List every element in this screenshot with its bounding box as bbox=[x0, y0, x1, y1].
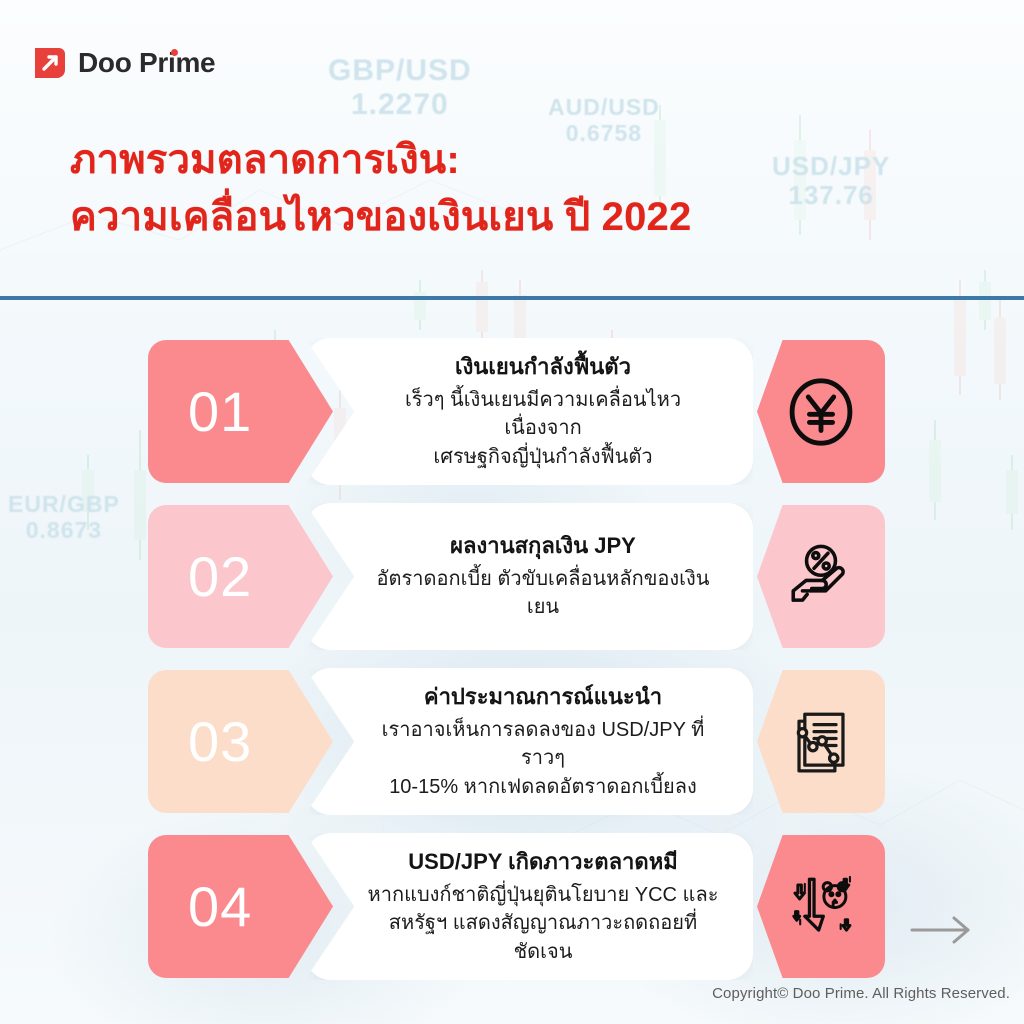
point-icon-badge-01 bbox=[757, 340, 885, 483]
page-title: ภาพรวมตลาดการเงิน: ความเคลื่อนไหวของเงิน… bbox=[70, 132, 950, 246]
point-title-04: USD/JPY เกิดภาวะตลาดหมี bbox=[408, 847, 677, 877]
point-desc-04-line2: สหรัฐฯ แสดงสัญญาณภาวะถดถอยที่ชัดเจน bbox=[367, 909, 719, 966]
bear-market-down-arrow-icon bbox=[784, 870, 858, 944]
point-number-01: 01 bbox=[188, 379, 252, 444]
page-title-line2: ความเคลื่อนไหวของเงินเยน ปี 2022 bbox=[70, 189, 950, 246]
point-icon-badge-03 bbox=[757, 670, 885, 813]
header-divider bbox=[0, 296, 1024, 300]
point-card-01: เงินเยนกำลังฟื้นตัว เร็วๆ นี้เงินเยนมีคว… bbox=[305, 338, 753, 485]
point-icon-badge-02 bbox=[757, 505, 885, 648]
brand-logo[interactable]: Doo Prime bbox=[33, 46, 215, 80]
page-title-line1: ภาพรวมตลาดการเงิน: bbox=[70, 138, 460, 182]
arrow-right-icon bbox=[910, 915, 972, 945]
point-icon-badge-04 bbox=[757, 835, 885, 978]
hand-percent-icon bbox=[784, 540, 858, 614]
point-desc-03-line2: 10-15% หากเฟดลดอัตราดอกเบี้ยลง bbox=[389, 773, 697, 801]
list-item[interactable]: 01 เงินเยนกำลังฟื้นตัว เร็วๆ นี้เงินเยนม… bbox=[0, 330, 1024, 495]
header: Doo Prime ภาพรวมตลาดการเงิน: ความเคลื่อน… bbox=[0, 0, 1024, 300]
point-desc-02-line1: อัตราดอกเบี้ย ตัวขับเคลื่อนหลักของเงินเย… bbox=[367, 565, 719, 622]
point-number-02: 02 bbox=[188, 544, 252, 609]
brand-logo-text: Doo Prime bbox=[78, 47, 215, 79]
point-title-01: เงินเยนกำลังฟื้นตัว bbox=[455, 352, 631, 382]
list-item[interactable]: 04 USD/JPY เกิดภาวะตลาดหมี หากแบงก์ชาติญ… bbox=[0, 825, 1024, 990]
point-title-02: ผลงานสกุลเงิน JPY bbox=[450, 531, 636, 561]
point-title-03: ค่าประมาณการณ์แนะนำ bbox=[424, 682, 662, 712]
point-number-badge-01: 01 bbox=[148, 340, 333, 483]
logo-i-dot-icon bbox=[171, 49, 178, 56]
list-item[interactable]: 02 ผลงานสกุลเงิน JPY อัตราดอกเบี้ย ตัวขั… bbox=[0, 495, 1024, 660]
point-number-badge-03: 03 bbox=[148, 670, 333, 813]
report-declining-chart-icon bbox=[784, 705, 858, 779]
point-number-badge-02: 02 bbox=[148, 505, 333, 648]
point-number-03: 03 bbox=[188, 709, 252, 774]
copyright-text: Copyright© Doo Prime. All Rights Reserve… bbox=[712, 985, 1010, 1002]
doo-prime-square-mark-icon bbox=[33, 46, 67, 80]
point-desc-04-line1: หากแบงก์ชาติญี่ปุ่นยุตินโยบาย YCC และ bbox=[368, 881, 719, 909]
point-card-02: ผลงานสกุลเงิน JPY อัตราดอกเบี้ย ตัวขับเค… bbox=[305, 503, 753, 650]
yen-coin-icon bbox=[784, 375, 858, 449]
points-list: 01 เงินเยนกำลังฟื้นตัว เร็วๆ นี้เงินเยนม… bbox=[0, 330, 1024, 990]
point-card-04: USD/JPY เกิดภาวะตลาดหมี หากแบงก์ชาติญี่ป… bbox=[305, 833, 753, 980]
next-slide-arrow[interactable] bbox=[910, 915, 972, 950]
point-number-badge-04: 04 bbox=[148, 835, 333, 978]
point-card-03: ค่าประมาณการณ์แนะนำ เราอาจเห็นการลดลงของ… bbox=[305, 668, 753, 815]
list-item[interactable]: 03 ค่าประมาณการณ์แนะนำ เราอาจเห็นการลดลง… bbox=[0, 660, 1024, 825]
point-number-04: 04 bbox=[188, 874, 252, 939]
point-desc-01-line2: เศรษฐกิจญี่ปุ่นกำลังฟื้นตัว bbox=[433, 443, 652, 471]
point-desc-01-line1: เร็วๆ นี้เงินเยนมีความเคลื่อนไหวเนื่องจา… bbox=[367, 386, 719, 443]
point-desc-03-line1: เราอาจเห็นการลดลงของ USD/JPY ที่ราวๆ bbox=[367, 716, 719, 773]
